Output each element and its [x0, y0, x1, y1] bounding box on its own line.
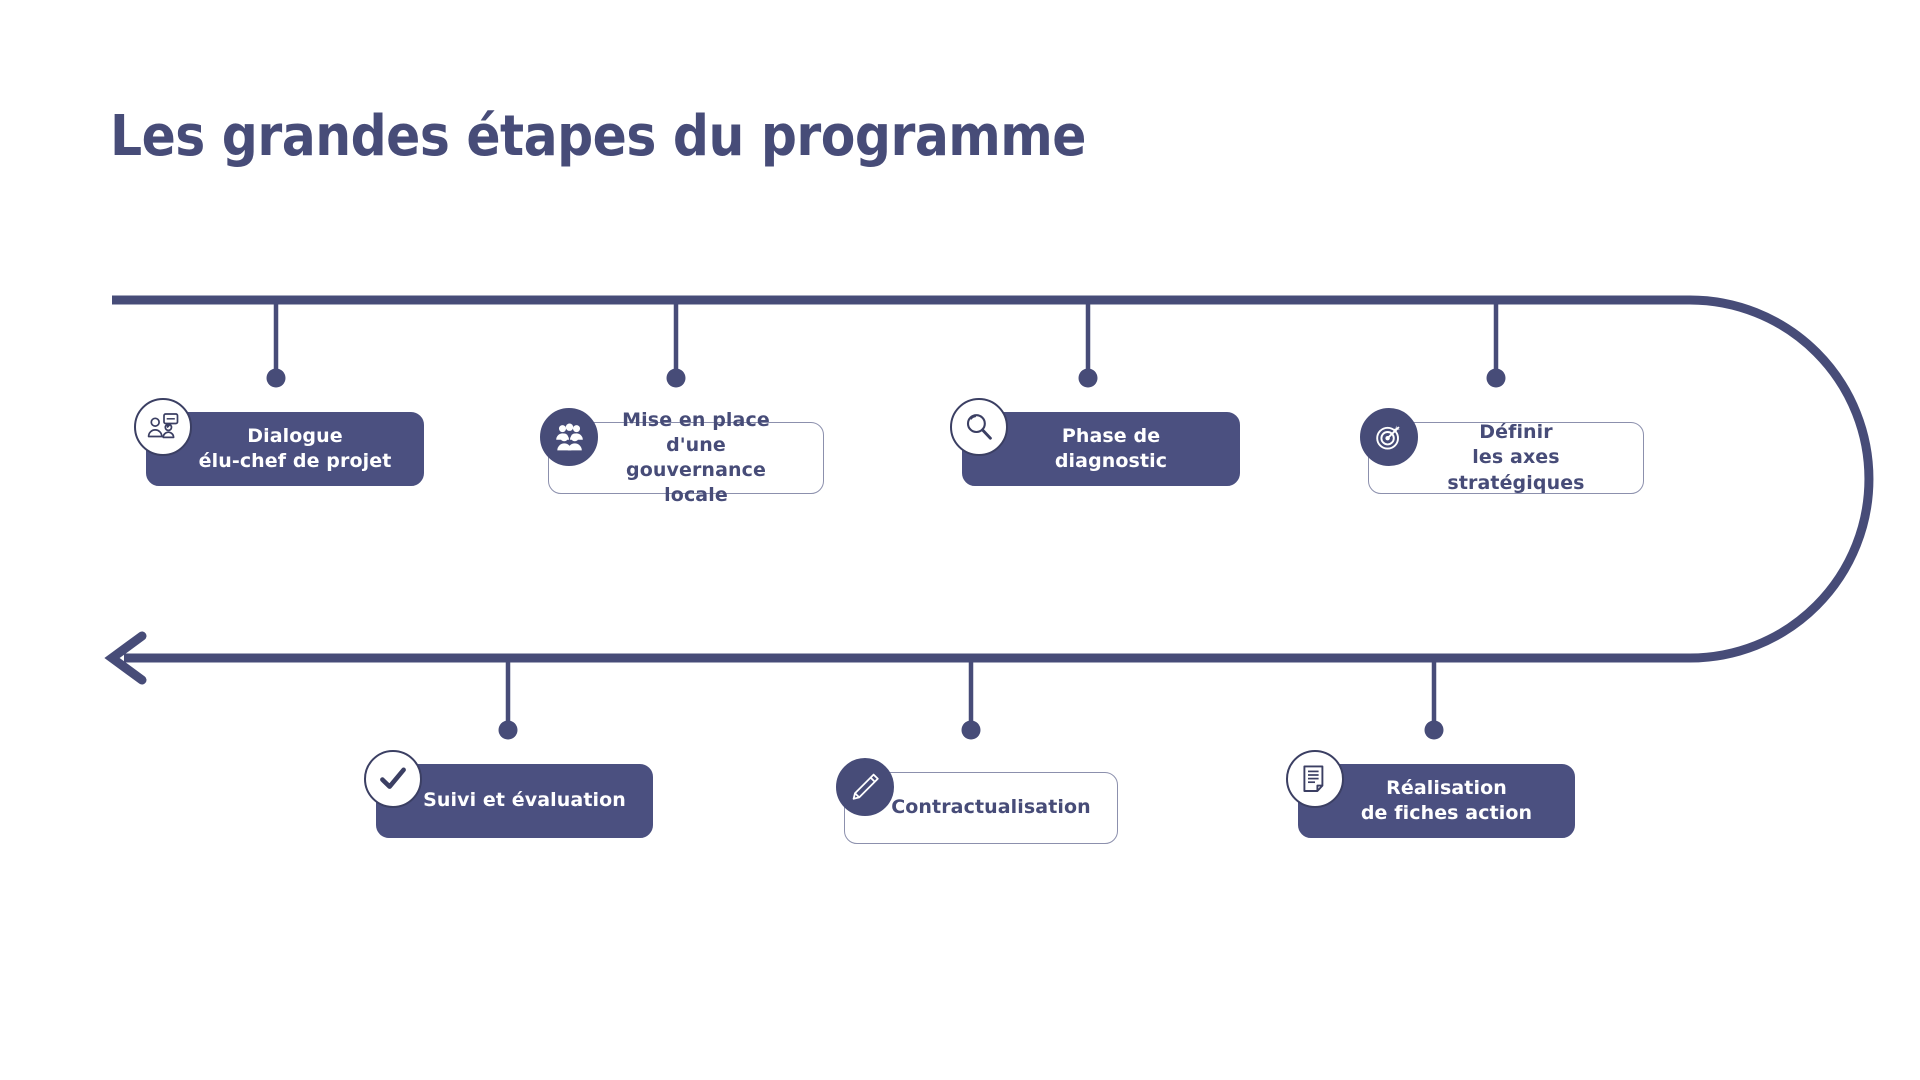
page-title: Les grandes étapes du programme — [110, 108, 1086, 167]
magnifier-icon — [950, 398, 1008, 456]
dot-6 — [962, 721, 981, 740]
dot-5 — [499, 721, 518, 740]
target-icon — [1360, 408, 1418, 466]
timeline-arrowhead-icon — [112, 636, 142, 680]
dot-3 — [1079, 369, 1098, 388]
people-dialogue-icon — [134, 398, 192, 456]
timeline-uturn-curve — [1690, 300, 1869, 658]
dot-4 — [1487, 369, 1506, 388]
dot-1 — [267, 369, 286, 388]
dot-7 — [1425, 721, 1444, 740]
document-icon — [1286, 750, 1344, 808]
pencil-icon — [836, 758, 894, 816]
timeline-stems-bottom — [499, 658, 1444, 740]
dot-2 — [667, 369, 686, 388]
group-people-icon — [540, 408, 598, 466]
slide-canvas: Les grandes étapes du programme — [0, 0, 1920, 1080]
timeline-stems-top — [267, 300, 1506, 388]
check-icon — [364, 750, 422, 808]
